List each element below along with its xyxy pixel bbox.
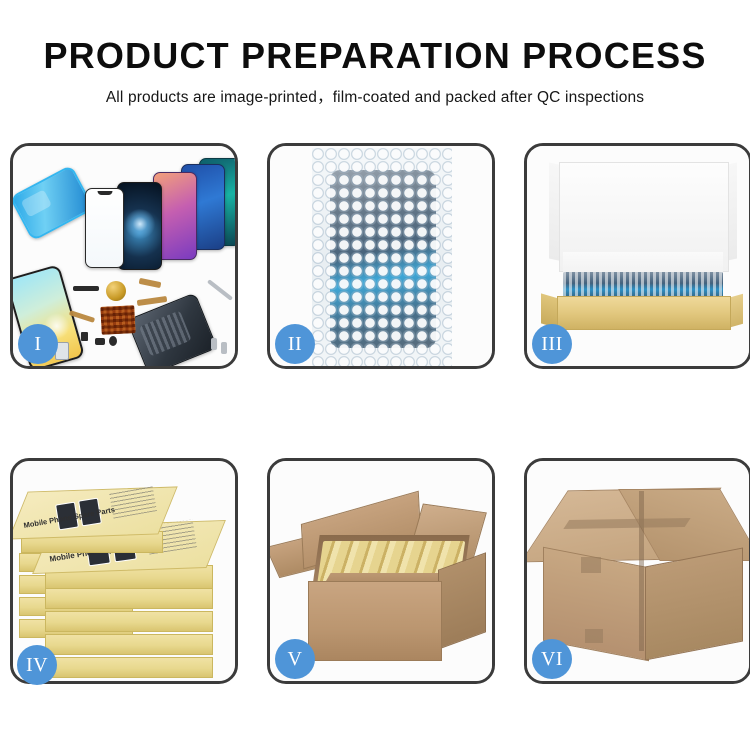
page-title: PRODUCT PREPARATION PROCESS <box>0 36 750 76</box>
step-badge-2: II <box>275 324 315 364</box>
panel-inner-box[interactable]: III <box>524 143 750 369</box>
carton-tape-tab-upper-graphic <box>581 557 601 573</box>
phone-glass-panel-graphic <box>85 188 124 268</box>
panel-phone-parts[interactable]: I <box>10 143 238 369</box>
small-part-b-graphic <box>95 338 105 345</box>
carton-right-face-graphic <box>645 547 743 660</box>
small-part-a-graphic <box>81 332 88 341</box>
panel-sealed-carton[interactable]: VI <box>524 458 750 684</box>
flex-cable-c-graphic <box>139 278 162 288</box>
carton-right-side-graphic <box>438 552 486 649</box>
step-badge-3: III <box>532 324 572 364</box>
step-badge-4: IV <box>17 645 57 685</box>
carton-tape-tab-lower-graphic <box>585 629 603 643</box>
stacked-box-graphic <box>45 588 213 609</box>
panel-box-stack[interactable]: Mobile Phone Spare Parts Mobile Phone Sp… <box>10 458 238 684</box>
earpiece-mesh-graphic <box>73 286 99 291</box>
screw-a-graphic <box>211 338 217 350</box>
stacked-box-graphic <box>45 657 213 678</box>
speaker-module-graphic <box>106 281 126 301</box>
stacked-box-graphic <box>45 634 213 655</box>
carton-vertical-edge-graphic <box>639 491 644 651</box>
step-badge-1: I <box>18 324 58 364</box>
stacked-box-graphic <box>45 611 213 632</box>
bubble-highlights-graphic <box>312 148 452 369</box>
chip-grid-graphic <box>100 305 135 335</box>
small-part-c-graphic <box>109 336 117 346</box>
step-badge-6: VI <box>532 639 572 679</box>
phone-back-cover-graphic <box>10 164 95 241</box>
screw-b-graphic <box>221 342 227 354</box>
step-badge-5: V <box>275 639 315 679</box>
screwdriver-graphic <box>207 279 233 301</box>
process-step-grid: I II III <box>10 143 740 684</box>
carton-front-face-graphic <box>308 581 442 661</box>
panel-bubble-wrap[interactable]: II <box>267 143 495 369</box>
header: PRODUCT PREPARATION PROCESS All products… <box>0 0 750 107</box>
panel-open-carton[interactable]: V <box>267 458 495 684</box>
page-subtitle: All products are image-printed，film-coat… <box>0 85 750 107</box>
box-front-panel-graphic <box>557 296 731 330</box>
